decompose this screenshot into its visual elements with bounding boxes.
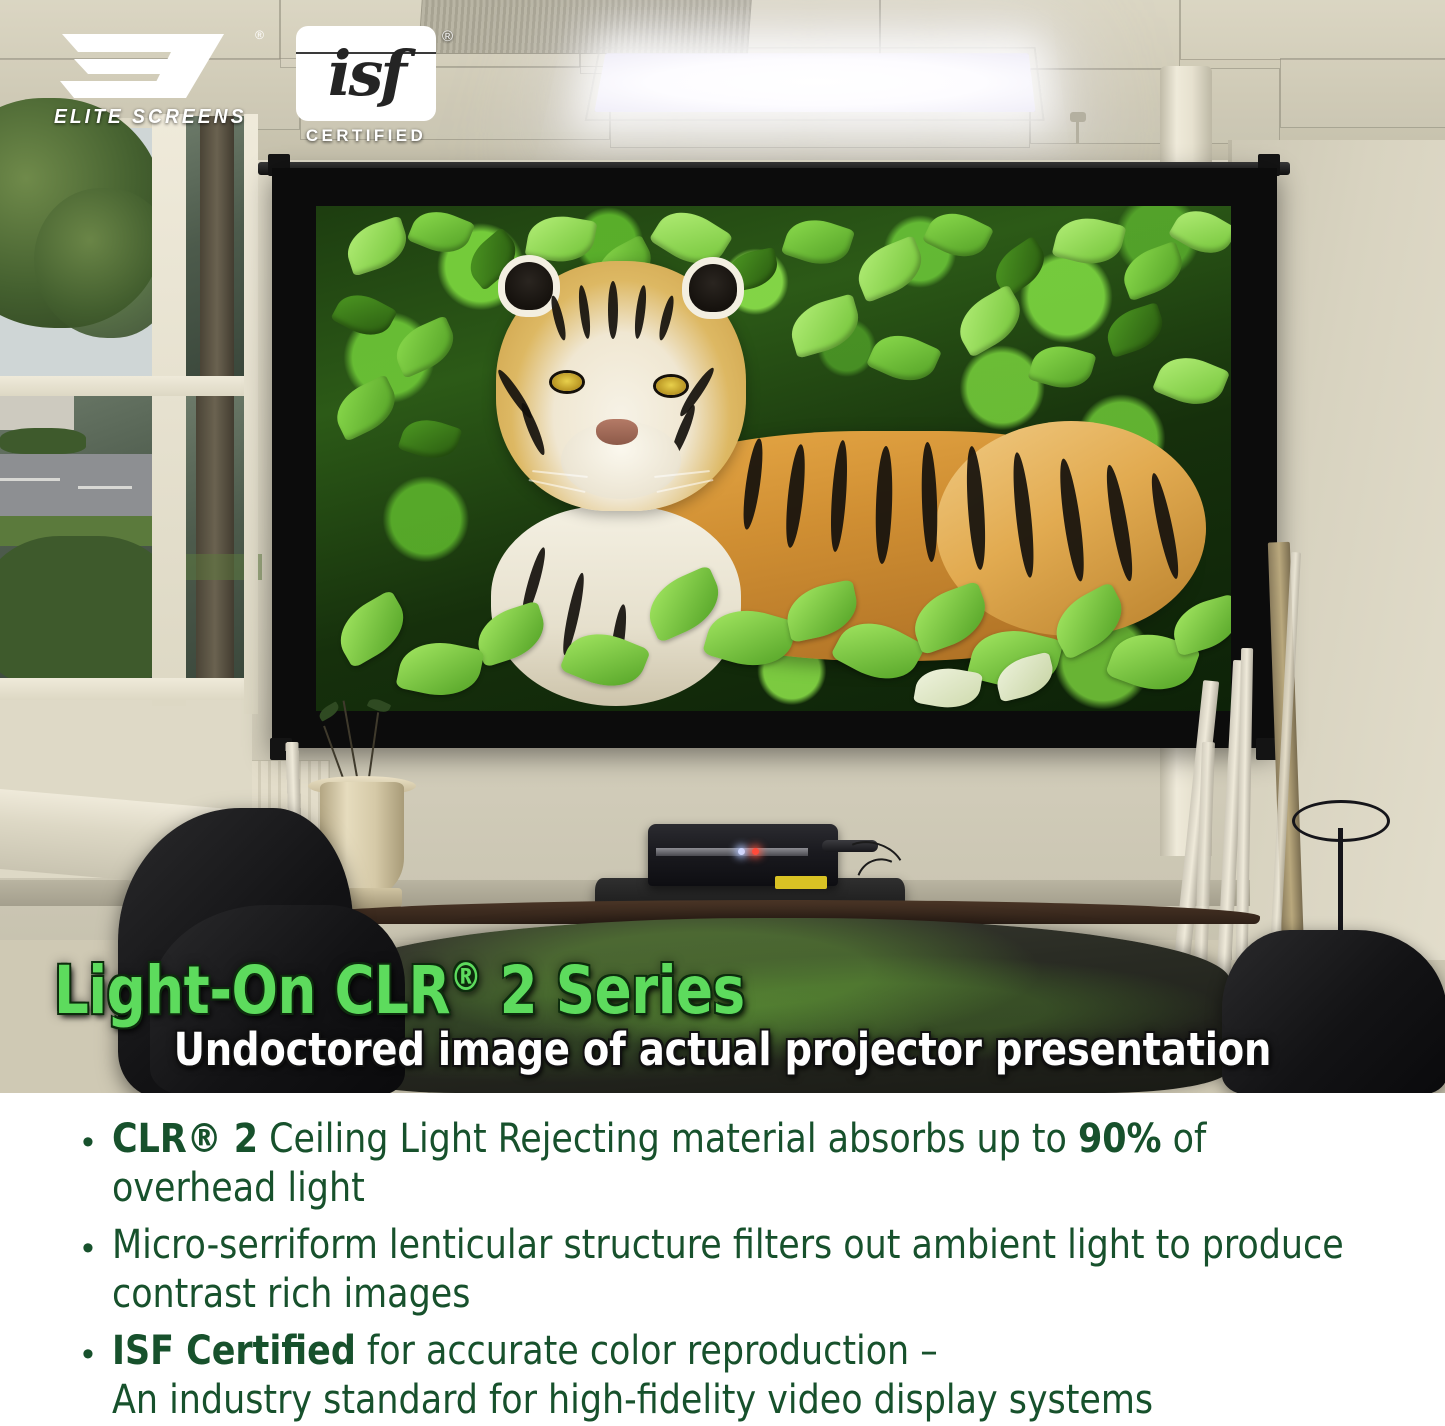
hero-subtitle: Undoctored image of actual projector pre… xyxy=(55,1023,1390,1076)
screen-projection-surface xyxy=(316,206,1231,711)
isf-logo-box: isf xyxy=(296,26,436,121)
projection-screen xyxy=(272,160,1277,752)
bullet-marker-icon: • xyxy=(82,1115,94,1163)
fluorescent-ceiling-light xyxy=(594,53,1035,112)
hero-title-registered-mark: ® xyxy=(450,955,481,999)
tiger-head xyxy=(496,261,746,511)
elite-screens-wordmark: ELITE SCREENS xyxy=(54,106,254,129)
ceiling-tile xyxy=(1180,0,1445,60)
projector-power-led xyxy=(738,848,745,855)
hero-title: Light-On CLR® 2 Series xyxy=(54,952,745,1029)
feature-body-a: for accurate color reproduction – xyxy=(356,1328,938,1374)
bullet-marker-icon: • xyxy=(82,1221,94,1269)
feature-bullet-item: • CLR® 2 Ceiling Light Rejecting materia… xyxy=(82,1115,1385,1213)
feature-lead: CLR® 2 xyxy=(112,1116,258,1162)
window-mullion-vertical xyxy=(152,114,186,706)
feature-bullet-list: • CLR® 2 Ceiling Light Rejecting materia… xyxy=(0,1093,1445,1426)
feature-bullet-text: ISF Certified for accurate color reprodu… xyxy=(112,1327,1153,1425)
feature-body-b: An industry standard for high-fidelity v… xyxy=(112,1377,1153,1423)
projector-control-strip xyxy=(656,848,808,856)
feature-emphasis: 90% xyxy=(1078,1116,1162,1162)
tiger-eye-left xyxy=(552,373,582,391)
projector-status-led xyxy=(752,848,759,855)
feature-body-a: Ceiling Light Rejecting material absorbs… xyxy=(258,1116,1078,1162)
tiger-nose xyxy=(596,419,638,445)
elite-screens-es-monogram-icon xyxy=(54,26,254,104)
window-frame-bottom xyxy=(0,678,256,700)
product-marketing-image: ® ELITE SCREENS isf ® CERTIFIED Light-On… xyxy=(0,0,1445,1426)
feature-bullet-text: CLR® 2 Ceiling Light Rejecting material … xyxy=(112,1115,1347,1213)
isf-certified-wordmark: CERTIFIED xyxy=(296,126,436,146)
feature-body-a: Micro-serriform lenticular structure fil… xyxy=(112,1222,1344,1317)
isf-glyph: isf xyxy=(296,26,436,121)
isf-registered-mark: ® xyxy=(442,28,453,45)
ceiling-tile xyxy=(1030,68,1280,144)
tiger-ear-left xyxy=(498,255,560,317)
feature-bullet-text: Micro-serriform lenticular structure fil… xyxy=(112,1221,1347,1319)
room-photograph: ® ELITE SCREENS isf ® CERTIFIED Light-On… xyxy=(0,0,1445,1093)
window-wall xyxy=(0,118,252,878)
window-mullion-horizontal xyxy=(0,376,256,396)
projector-label-sticker xyxy=(775,876,827,889)
window-pane-upper-left xyxy=(0,128,156,378)
hero-title-prefix: Light-On CLR xyxy=(54,952,450,1029)
isf-certified-logo: isf ® CERTIFIED xyxy=(296,26,446,146)
feature-bullet-item: • ISF Certified for accurate color repro… xyxy=(82,1327,1385,1425)
elite-screens-logo: ® ELITE SCREENS xyxy=(54,26,262,129)
window-frame-right xyxy=(244,114,258,714)
tiger-ear-right xyxy=(682,257,744,319)
ceiling-tile xyxy=(1280,58,1445,128)
feature-lead: ISF Certified xyxy=(112,1328,356,1374)
tiger-eye-right xyxy=(656,377,686,395)
feature-bullet-item: • Micro-serriform lenticular structure f… xyxy=(82,1221,1385,1319)
brand-logo-group: ® ELITE SCREENS isf ® CERTIFIED xyxy=(54,26,446,146)
elite-screens-registered-mark: ® xyxy=(255,28,264,42)
hero-title-suffix: 2 Series xyxy=(481,952,745,1029)
ceiling-sensor xyxy=(1070,112,1086,122)
screen-black-border xyxy=(272,168,1277,748)
bullet-marker-icon: • xyxy=(82,1327,94,1375)
window-pane-lower-left xyxy=(0,390,156,680)
